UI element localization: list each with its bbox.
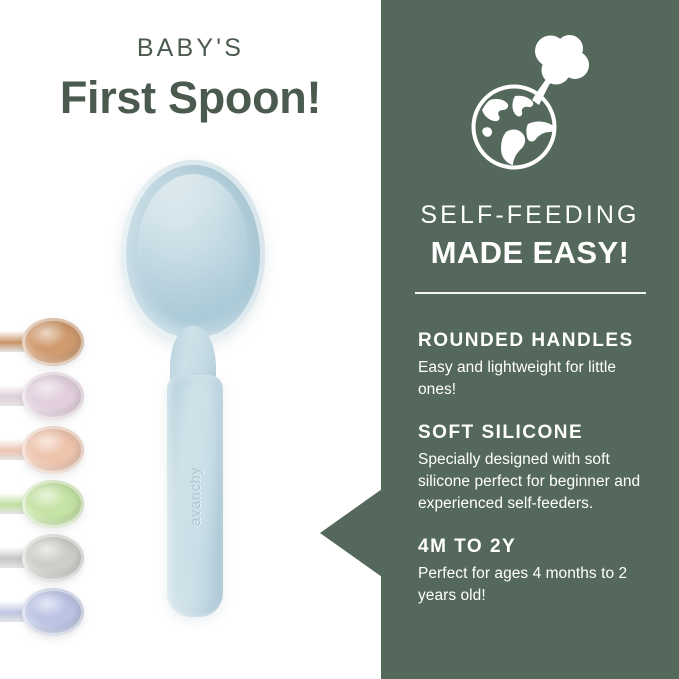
feature-body: Easy and lightweight for little ones! [418, 357, 658, 401]
spoon-bowl-inner [138, 174, 248, 324]
title-block: BABY'S First Spoon! [0, 36, 381, 121]
color-spoon-bowl [22, 480, 84, 528]
main-spoon-image: avanchy [113, 160, 273, 660]
color-spoon-bowl [22, 588, 84, 636]
color-spoon-peach [0, 426, 84, 474]
color-spoon-bowl [22, 372, 84, 420]
feature-item: 4M TO 2YPerfect for ages 4 months to 2 y… [418, 536, 658, 607]
feature-title: 4M TO 2Y [418, 536, 658, 558]
heading-line-2: MADE EASY! [381, 237, 679, 268]
product-infographic: BABY'S First Spoon! avanchy [0, 0, 679, 679]
title-eyebrow: BABY'S [0, 36, 381, 61]
globe-broccoli-icon [470, 24, 590, 174]
color-spoon-bowl [22, 534, 84, 582]
feature-title: ROUNDED HANDLES [418, 330, 658, 352]
spoon-brand-embossed: avanchy [187, 466, 203, 525]
color-spoon-tan [0, 318, 84, 366]
logo [381, 24, 679, 174]
spoon-bowl-icon [121, 160, 265, 342]
color-spoon-bowl [22, 318, 84, 366]
color-spoon-gray [0, 534, 84, 582]
feature-body: Specially designed with soft silicone pe… [418, 449, 658, 515]
heading-line-1: SELF-FEEDING [381, 203, 679, 228]
feature-item: SOFT SILICONESpecially designed with sof… [418, 422, 658, 515]
feature-title: SOFT SILICONE [418, 422, 658, 444]
spoon-handle: avanchy [167, 375, 223, 617]
color-spoon-green [0, 480, 84, 528]
left-panel: BABY'S First Spoon! avanchy [0, 0, 381, 679]
feature-body: Perfect for ages 4 months to 2 years old… [418, 563, 658, 607]
panel-heading: SELF-FEEDING MADE EASY! [381, 203, 679, 268]
color-spoon-bowl [22, 426, 84, 474]
heading-divider [415, 292, 646, 294]
feature-list: ROUNDED HANDLESEasy and lightweight for … [418, 330, 658, 628]
feature-item: ROUNDED HANDLESEasy and lightweight for … [418, 330, 658, 401]
page-title: First Spoon! [0, 74, 381, 121]
color-spoon-lavender [0, 372, 84, 420]
color-spoon-periwinkle [0, 588, 84, 636]
